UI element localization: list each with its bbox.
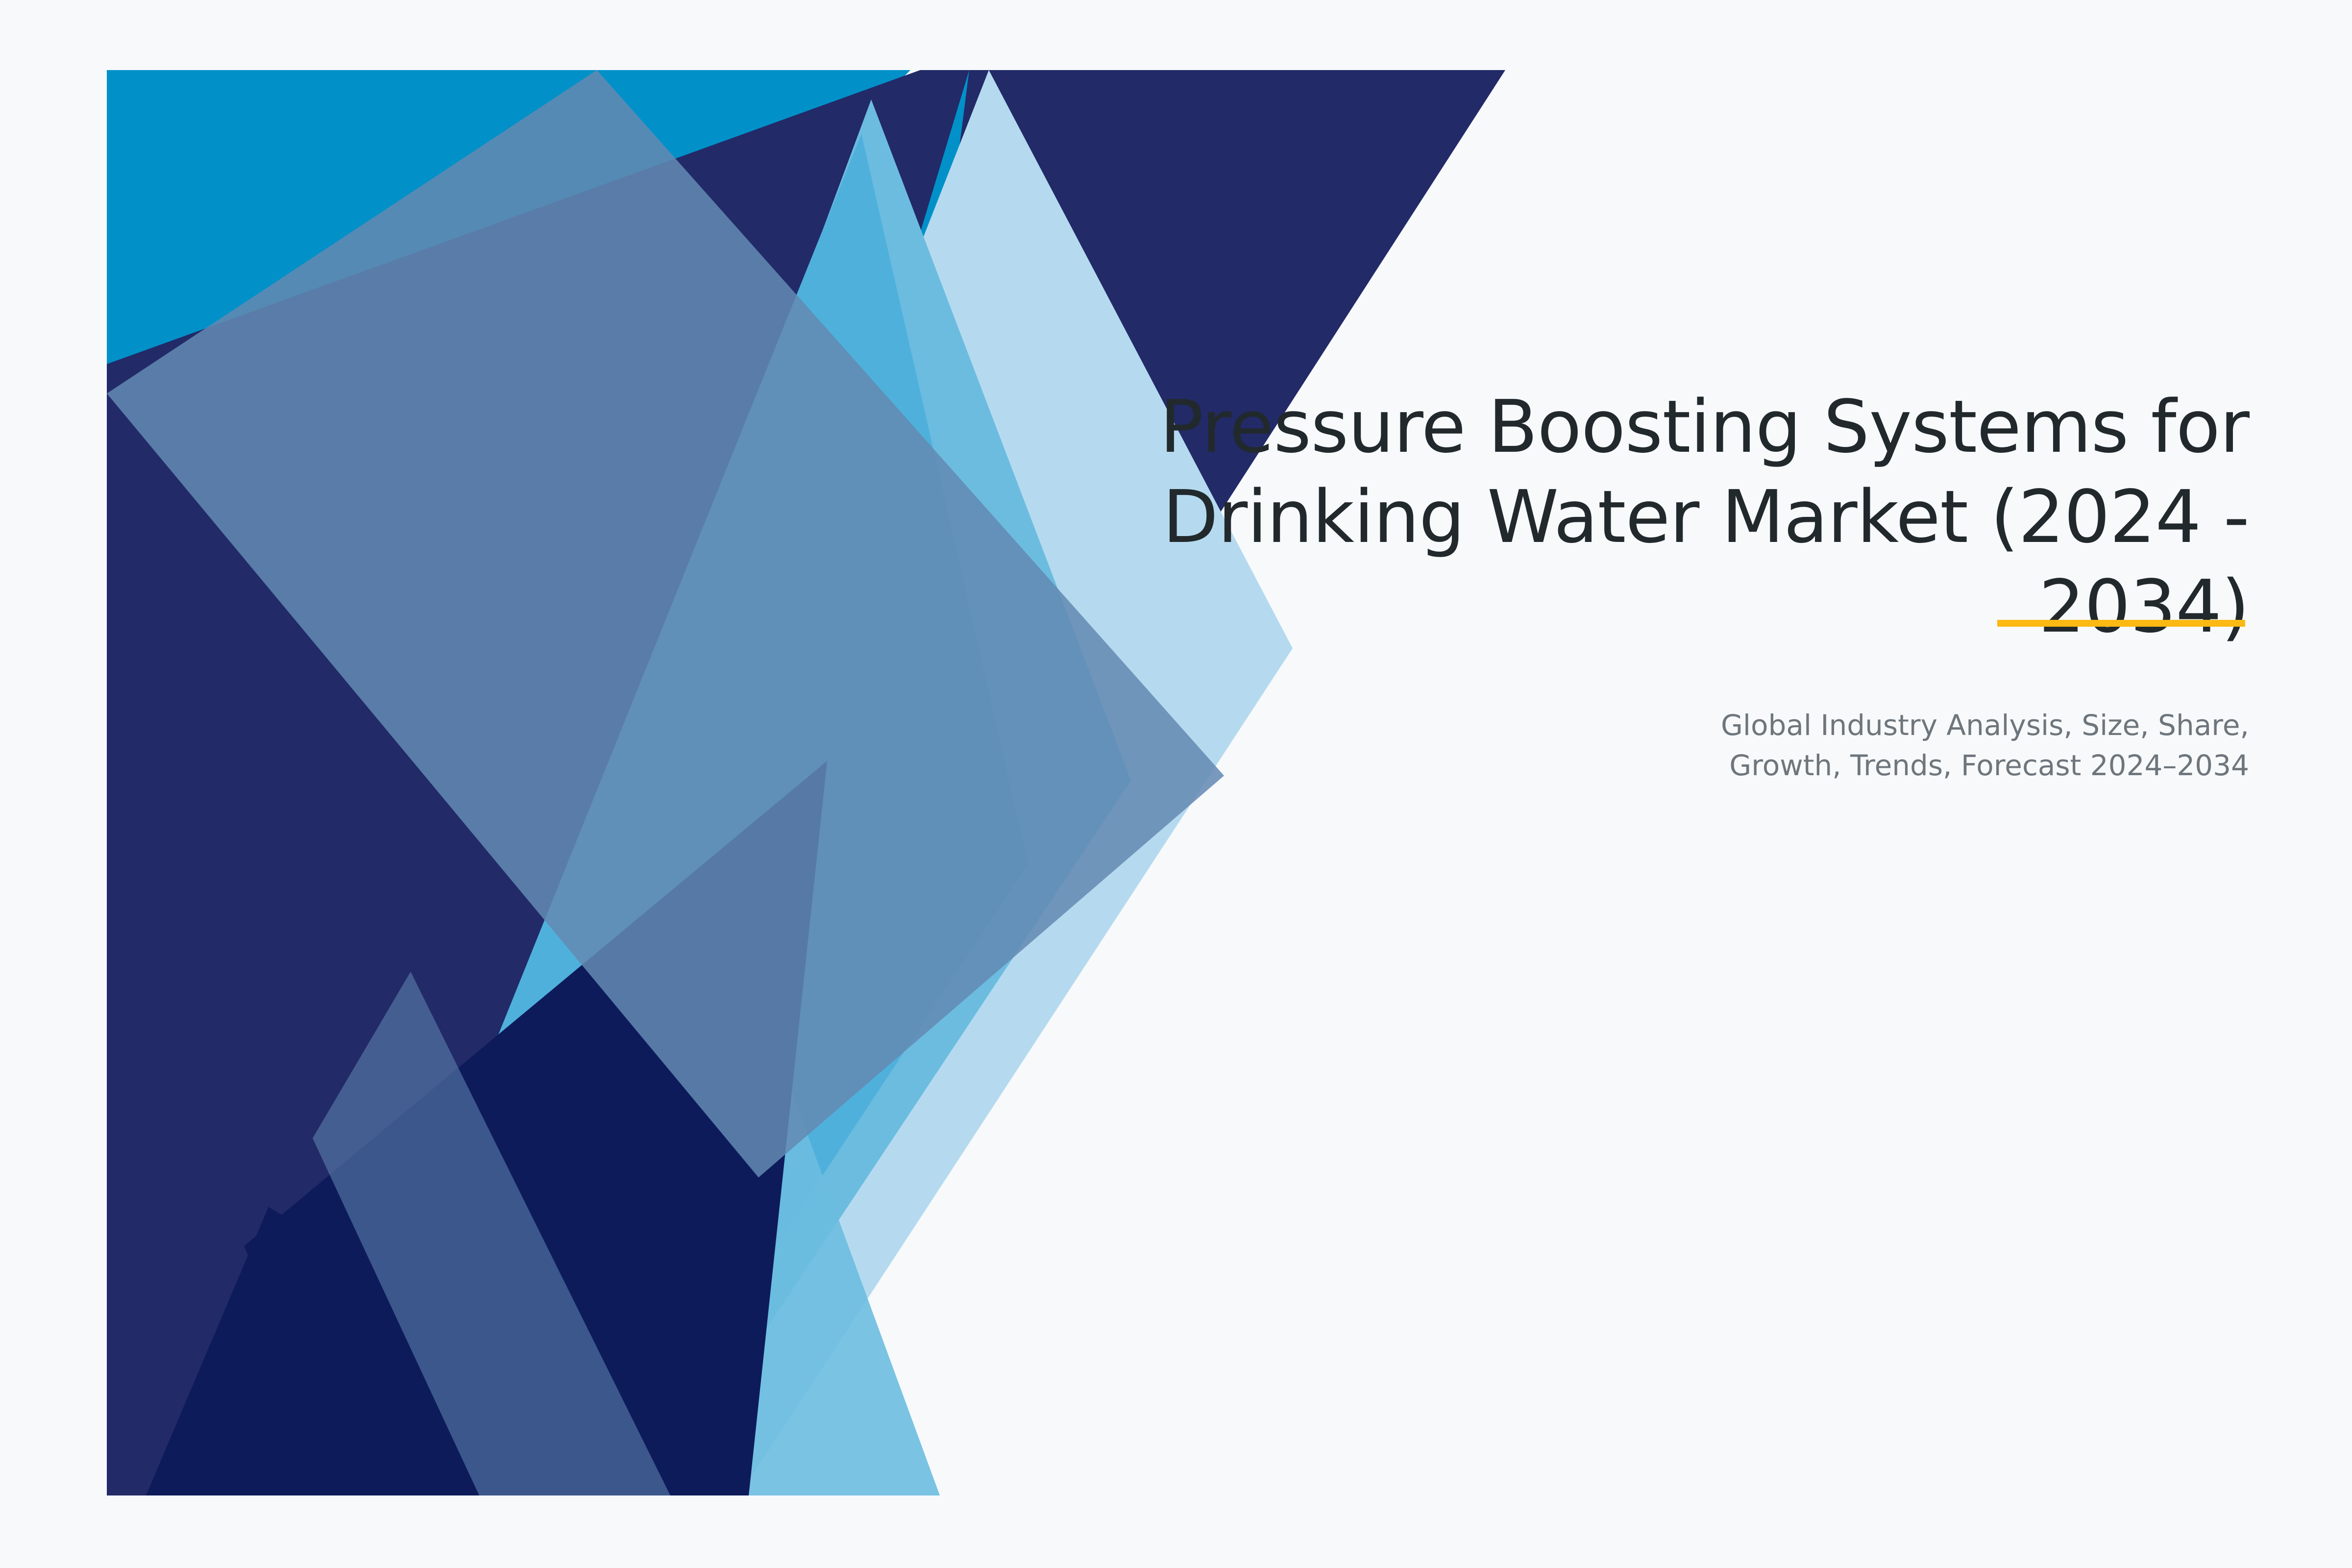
page-title: Pressure Boosting Systems for Drinking W…	[975, 382, 2249, 652]
page-subtitle: Global Industry Analysis, Size, Share, G…	[975, 705, 2249, 786]
title-wrap: Pressure Boosting Systems for Drinking W…	[975, 382, 2249, 652]
slide-canvas: Pressure Boosting Systems for Drinking W…	[0, 0, 2352, 1568]
cover-text-block: Pressure Boosting Systems for Drinking W…	[975, 382, 2249, 785]
title-accent-underline	[1997, 620, 2245, 627]
